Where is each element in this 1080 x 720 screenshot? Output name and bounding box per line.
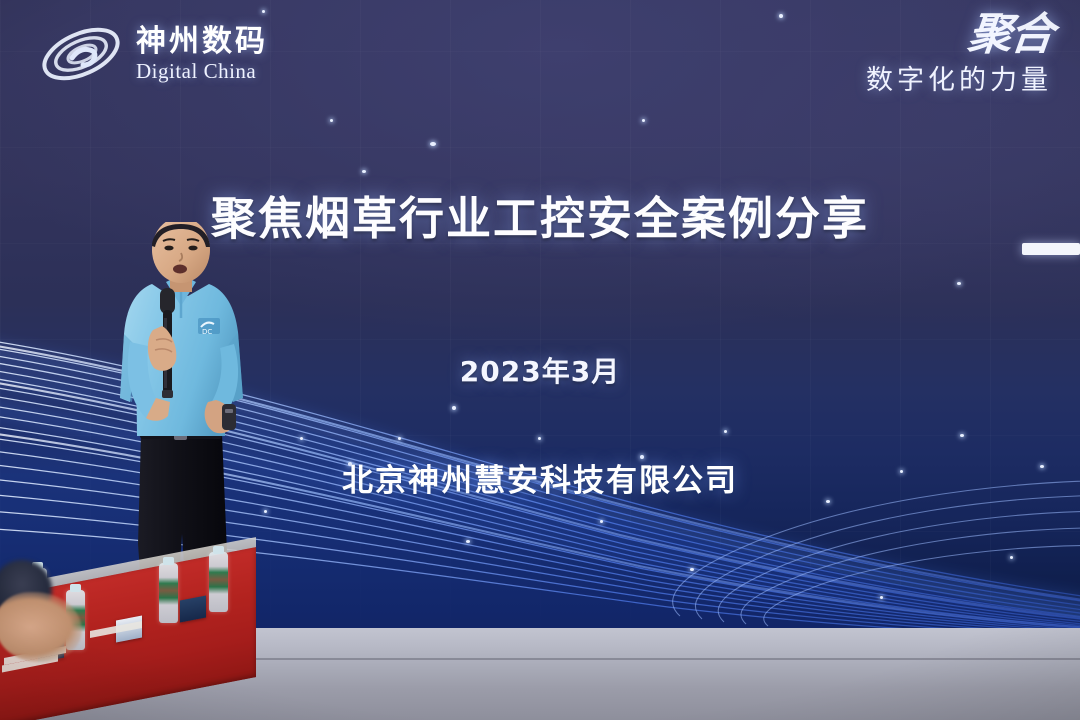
shirt-logo-icon: DC (198, 318, 220, 336)
digital-china-swirl-icon (38, 18, 124, 90)
bottle-cap (70, 584, 81, 592)
presentation-clicker-icon (222, 404, 236, 430)
brand-name-en: Digital China (136, 61, 268, 82)
digital-china-logo: 神州数码 Digital China (38, 18, 268, 90)
brand-name-cn: 神州数码 (136, 27, 268, 57)
event-tagline: 数字化的力量 (866, 58, 1052, 97)
svg-text:DC: DC (202, 328, 212, 336)
water-bottle (159, 563, 178, 623)
event-calligraphy: 聚合 (864, 14, 1054, 56)
bottle-cap (213, 546, 224, 554)
event-logo: 聚合 数字化的力量 (866, 14, 1052, 97)
conference-stage-photo: 神州数码 Digital China 聚合 数字化的力量 聚焦烟草行业工控安全案… (0, 0, 1080, 720)
water-bottle (209, 552, 228, 612)
bottle-cap (163, 557, 174, 565)
